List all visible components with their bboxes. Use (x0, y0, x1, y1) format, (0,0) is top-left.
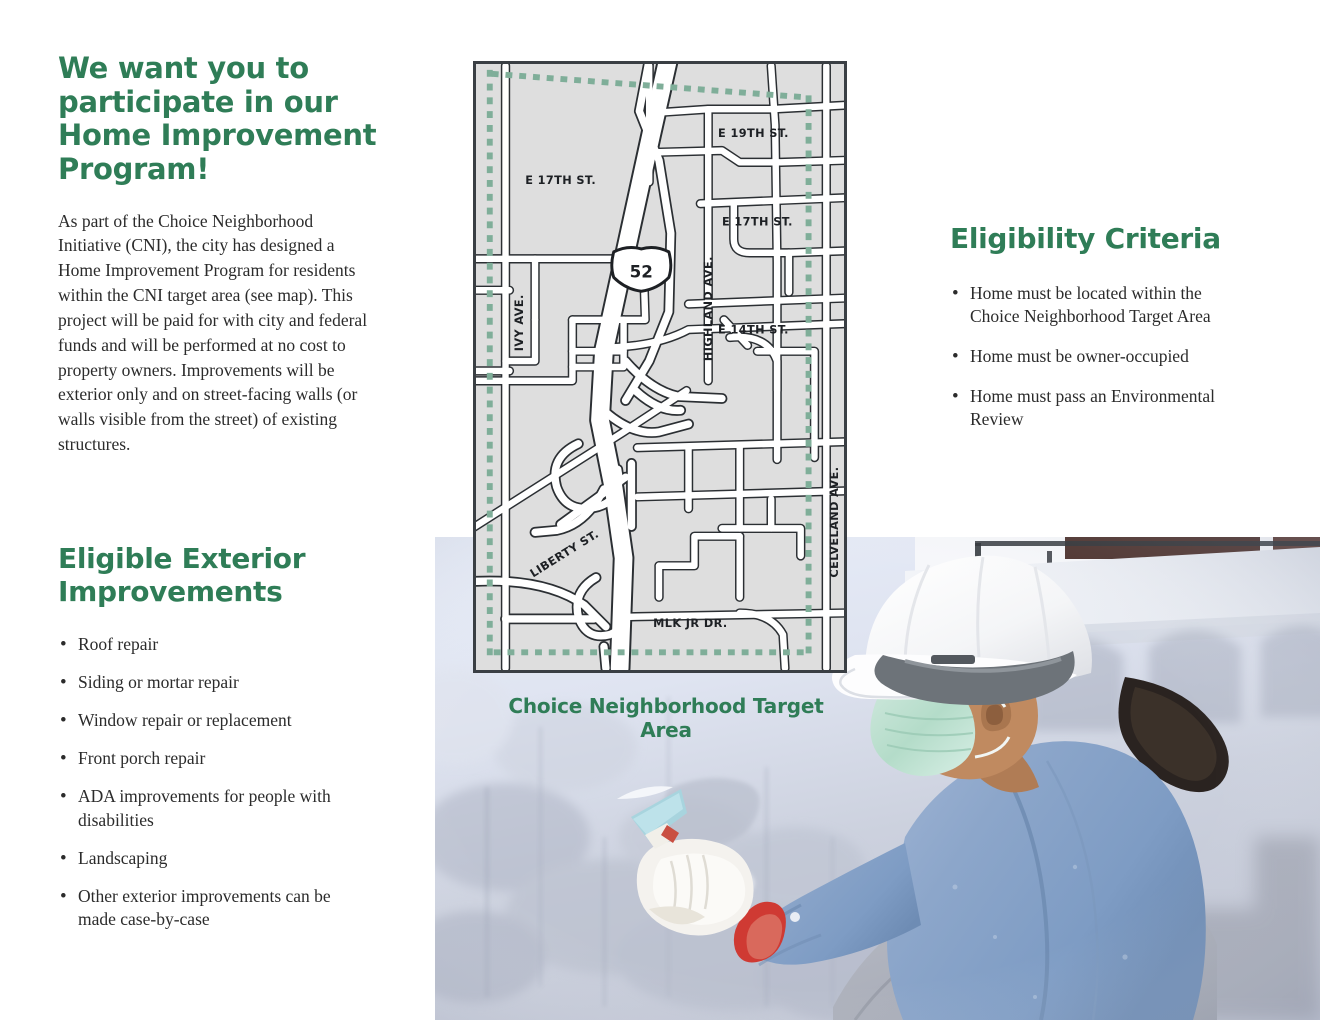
list-item: Home must be located within the Choice N… (950, 282, 1250, 328)
eligibility-criteria-heading: Eligibility Criteria (950, 222, 1260, 255)
street-label-e19th: E 19TH ST. (718, 127, 789, 140)
list-item: ADA improvements for people with disabil… (58, 785, 358, 831)
street-label-e17th-east: E 17TH ST. (722, 215, 793, 228)
street-label-mlk: MLK JR DR. (653, 617, 727, 630)
street-label-celveland: CELVELAND AVE. (828, 467, 841, 578)
eligible-improvements-section: Eligible Exterior Improvements Roof repa… (58, 542, 388, 946)
page-title: We want you to participate in our Home I… (58, 52, 378, 187)
list-item: Home must pass an Environmental Review (950, 385, 1250, 431)
brochure-page: We want you to participate in our Home I… (0, 0, 1320, 1020)
left-column: We want you to participate in our Home I… (58, 52, 378, 457)
map-artwork: .rd { fill:none; stroke:#2b2f33; stroke-… (476, 64, 844, 670)
street-label-e17th-west: E 17TH ST. (525, 174, 596, 187)
list-item: Front porch repair (58, 747, 358, 770)
list-item: Siding or mortar repair (58, 671, 358, 694)
list-item: Landscaping (58, 847, 358, 870)
street-label-e14th: E 14TH ST. (718, 324, 789, 337)
eligible-improvements-list: Roof repair Siding or mortar repair Wind… (58, 633, 358, 931)
highway-shield-52: 52 (612, 247, 671, 291)
intro-paragraph: As part of the Choice Neighborhood Initi… (58, 209, 370, 457)
target-area-map: .rd { fill:none; stroke:#2b2f33; stroke-… (473, 61, 847, 673)
map-caption: Choice Neighborhood Target Area (481, 694, 851, 742)
eligibility-criteria-list: Home must be located within the Choice N… (950, 282, 1250, 431)
street-label-highland: HIGHLAND AVE. (702, 256, 715, 361)
eligibility-criteria-section: Eligibility Criteria Home must be locate… (950, 222, 1260, 449)
list-item: Other exterior improvements can be made … (58, 885, 358, 931)
highway-shield-label: 52 (630, 261, 653, 281)
list-item: Roof repair (58, 633, 358, 656)
map-frame: .rd { fill:none; stroke:#2b2f33; stroke-… (473, 61, 847, 673)
eligible-improvements-heading: Eligible Exterior Improvements (58, 542, 388, 608)
list-item: Home must be owner-occupied (950, 345, 1250, 368)
street-label-ivy: IVY AVE. (513, 294, 526, 351)
list-item: Window repair or replacement (58, 709, 358, 732)
